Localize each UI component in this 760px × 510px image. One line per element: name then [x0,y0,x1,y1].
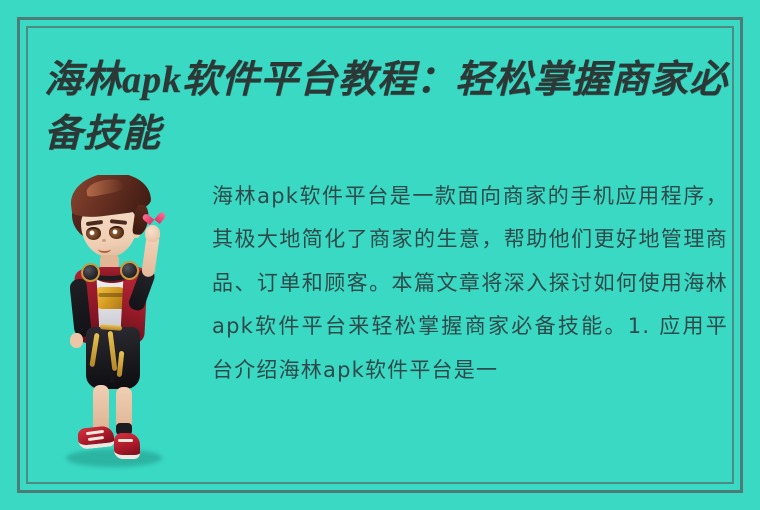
mascot-nose [102,239,106,242]
page-title: 海林apk软件平台教程：轻松掌握商家必备技能 [44,54,744,162]
article-content: 海林apk软件平台是一款面向商家的手机应用程序，其极大地简化了商家的生意，帮助他… [30,175,732,480]
mascot-illustration [30,175,200,475]
poster-canvas: 海林apk软件平台教程：轻松掌握商家必备技能 [0,0,760,510]
heart-icon [147,210,161,223]
mascot-mouth [98,245,111,253]
chibi-boy-icon [48,175,180,475]
mascot-hand-left [70,333,83,348]
mascot-headphone-cup-right [120,261,139,280]
mascot-eye-right [109,226,124,239]
mascot-sneaker-lace-c [118,439,133,442]
mascot-sneaker-right [114,433,140,459]
mascot-hand-raised [145,225,160,242]
page-title-text: 海林apk软件平台教程：轻松掌握商家必备技能 [44,54,744,162]
article-body-text: 海林apk软件平台是一款面向商家的手机应用程序，其极大地简化了商家的生意，帮助他… [212,175,732,392]
mascot-eye-left [86,227,101,240]
